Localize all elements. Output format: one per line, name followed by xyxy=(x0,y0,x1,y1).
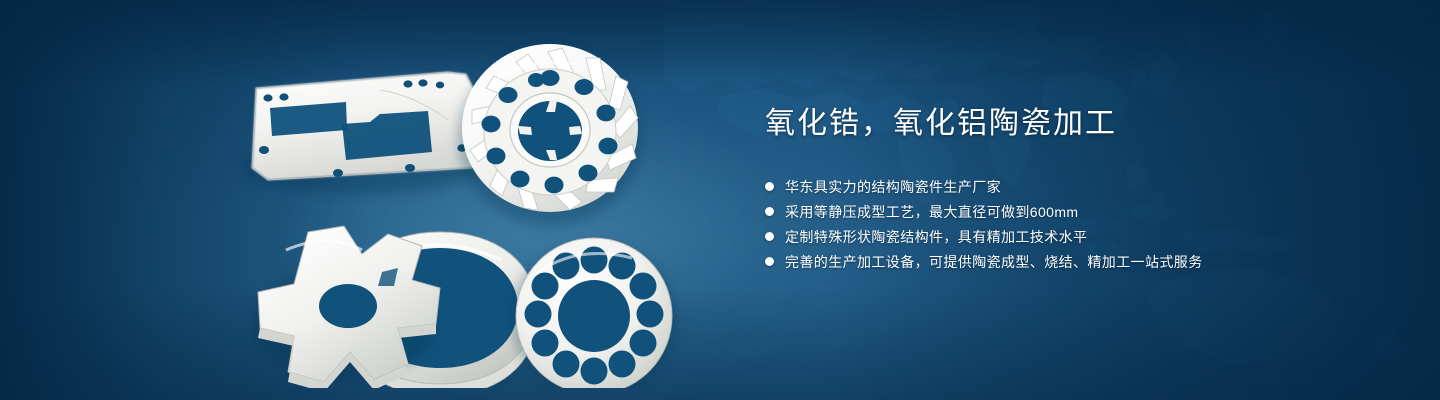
bullet-dot-icon xyxy=(765,257,774,266)
list-item-label: 华东具实力的结构陶瓷件生产厂家 xyxy=(785,177,1001,197)
list-item-label: 定制特殊形状陶瓷结构件，具有精加工技术水平 xyxy=(785,227,1087,247)
list-item: 采用等静压成型工艺，最大直径可做到600mm xyxy=(765,200,1385,224)
list-item: 定制特殊形状陶瓷结构件，具有精加工技术水平 xyxy=(765,225,1385,249)
list-item: 华东具实力的结构陶瓷件生产厂家 xyxy=(765,175,1385,199)
ceramic-perforated-ring xyxy=(512,238,676,388)
ceramic-products-image xyxy=(210,28,720,388)
hero-banner: 氧化锆，氧化铝陶瓷加工 华东具实力的结构陶瓷件生产厂家 采用等静压成型工艺，最大… xyxy=(0,0,1440,400)
banner-copy: 氧化锆，氧化铝陶瓷加工 华东具实力的结构陶瓷件生产厂家 采用等静压成型工艺，最大… xyxy=(765,104,1385,275)
bullet-dot-icon xyxy=(765,207,774,216)
ceramic-rectangular-plate xyxy=(242,72,486,194)
feature-list: 华东具实力的结构陶瓷件生产厂家 采用等静压成型工艺，最大直径可做到600mm 定… xyxy=(765,175,1385,274)
bullet-dot-icon xyxy=(765,232,774,241)
list-item-label: 采用等静压成型工艺，最大直径可做到600mm xyxy=(785,202,1078,222)
list-item: 完善的生产加工设备，可提供陶瓷成型、烧结、精加工一站式服务 xyxy=(765,250,1385,274)
bullet-dot-icon xyxy=(765,182,774,191)
page-title: 氧化锆，氧化铝陶瓷加工 xyxy=(765,104,1385,145)
ceramic-impeller-disc xyxy=(458,32,642,226)
list-item-label: 完善的生产加工设备，可提供陶瓷成型、烧结、精加工一站式服务 xyxy=(785,252,1203,272)
